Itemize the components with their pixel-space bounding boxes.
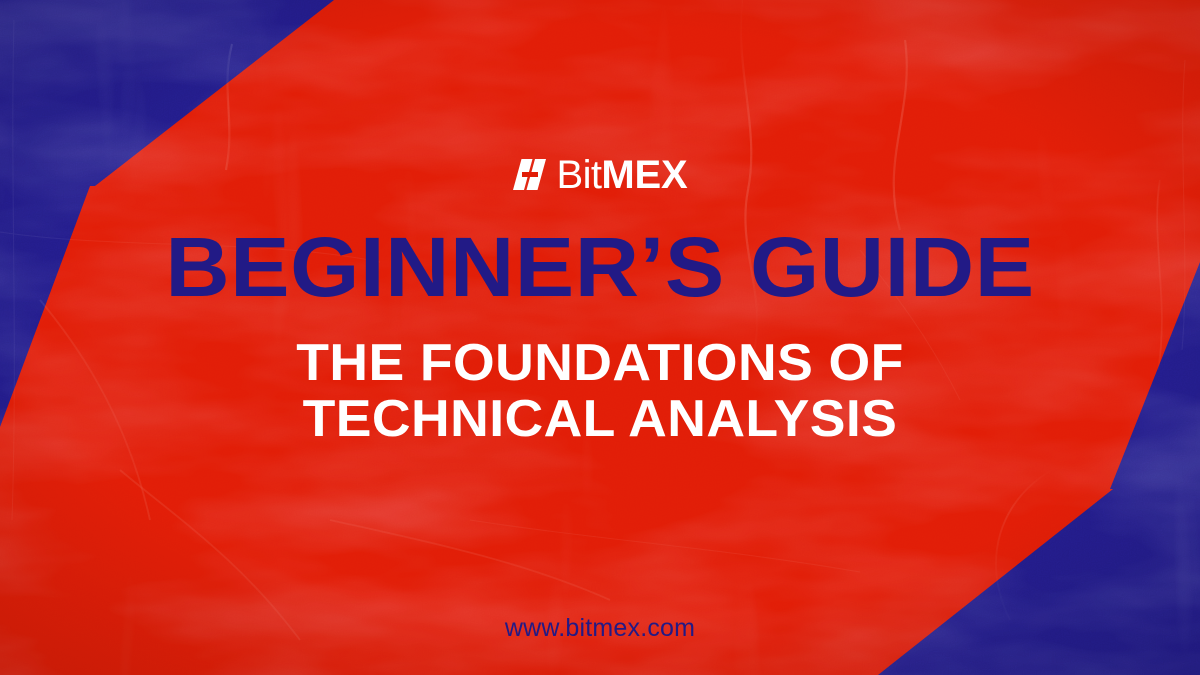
page-subtitle: THE FOUNDATIONS OF TECHNICAL ANALYSIS xyxy=(0,336,1200,447)
website-url: www.bitmex.com xyxy=(0,614,1200,643)
page-subtitle-line-2: TECHNICAL ANALYSIS xyxy=(0,392,1200,448)
bitmex-wordmark-light: Bit xyxy=(557,153,602,197)
bitmex-logo: BitMEX xyxy=(0,152,1200,196)
page-title: BEGINNER’S GUIDE xyxy=(0,228,1200,307)
poster-content: BitMEX BEGINNER’S GUIDE THE FOUNDATIONS … xyxy=(0,0,1200,675)
bitmex-wordmark: BitMEX xyxy=(557,155,688,195)
page-subtitle-line-1: THE FOUNDATIONS OF xyxy=(0,336,1200,392)
bitmex-wordmark-bold: MEX xyxy=(601,153,687,197)
poster-canvas: BitMEX BEGINNER’S GUIDE THE FOUNDATIONS … xyxy=(0,0,1200,675)
bitmex-slash-mark-icon xyxy=(513,159,546,190)
